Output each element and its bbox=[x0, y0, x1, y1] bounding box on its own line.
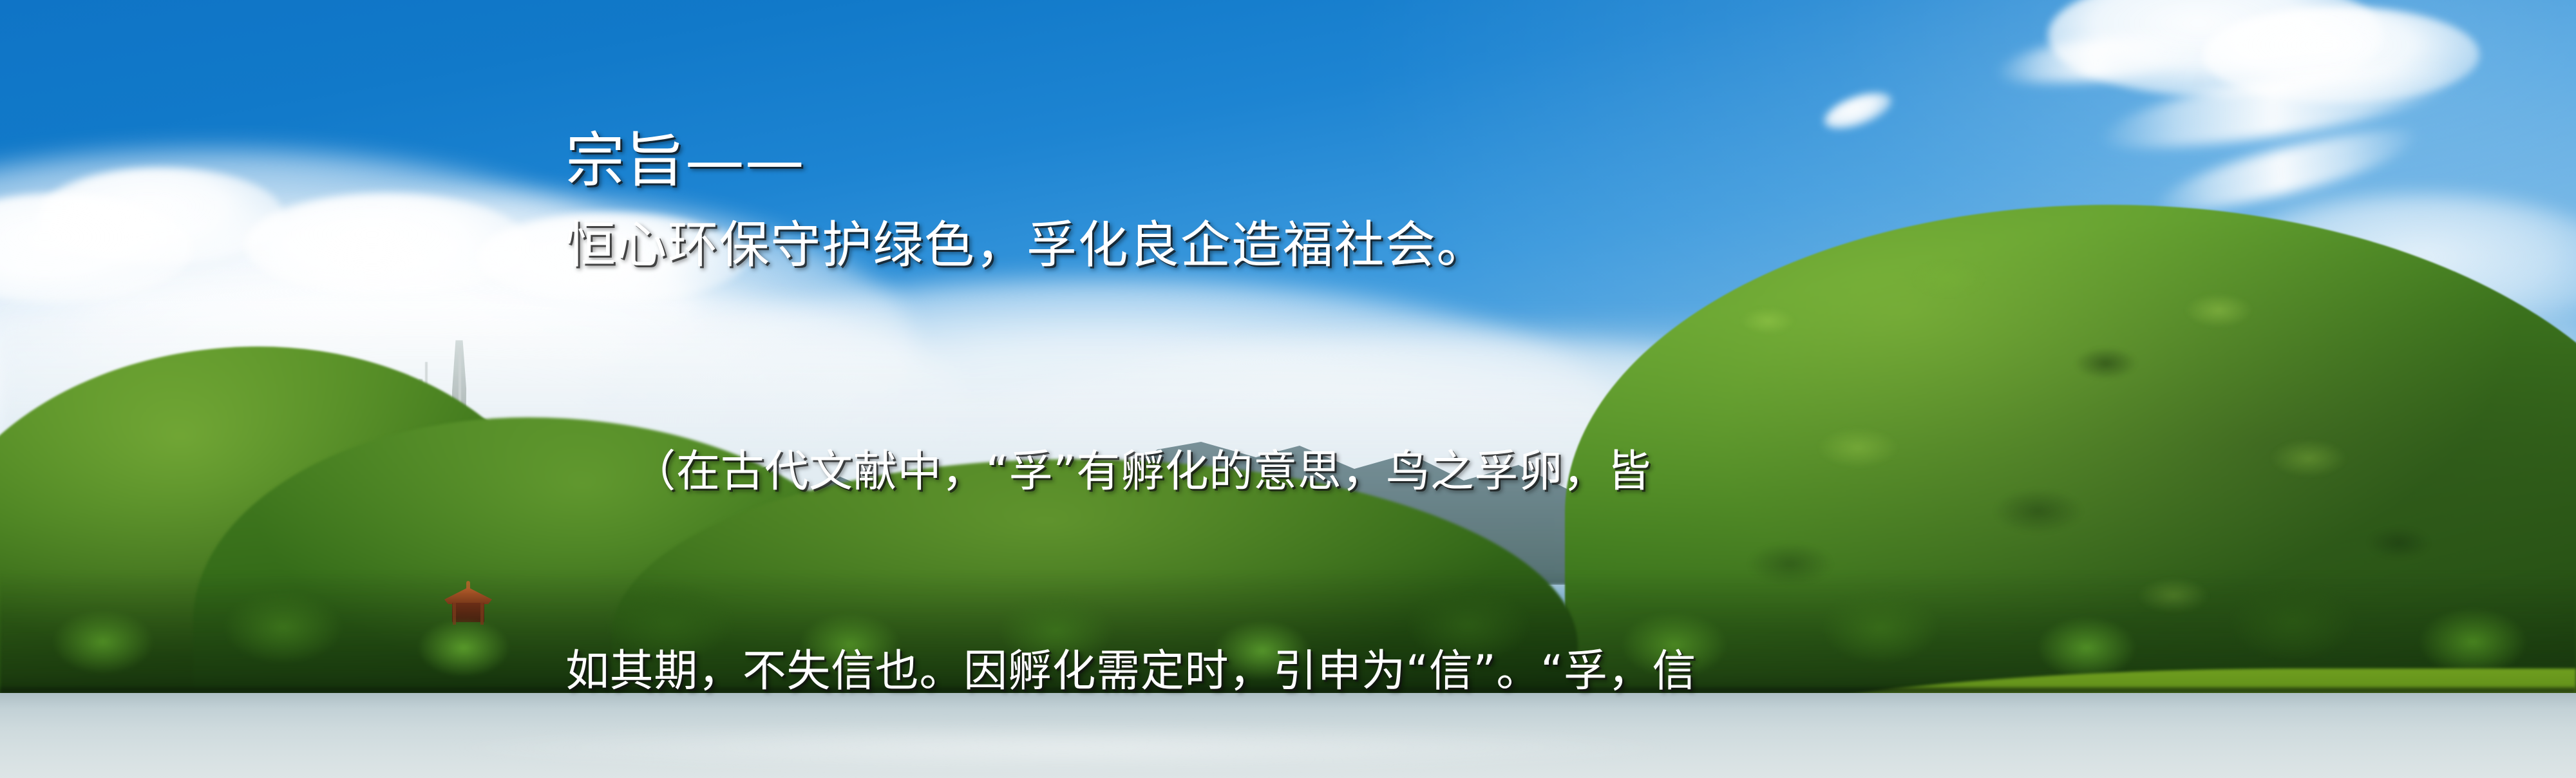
banner-text-block: 宗旨—— 恒心环保守护绿色，孚化良企造福社会。 （在古代文献中，“孚”有孵化的意… bbox=[565, 126, 2034, 778]
gloss-line-1: （在古代文献中，“孚”有孵化的意思，鸟之孚卵，皆 bbox=[565, 439, 2034, 505]
gloss-paragraph: （在古代文献中，“孚”有孵化的意思，鸟之孚卵，皆 如其期，不失信也。因孵化需定时… bbox=[565, 305, 2034, 778]
company-slogan: 恒心环保守护绿色，孚化良企造福社会。 bbox=[565, 216, 2034, 276]
hero-banner: 宗旨—— 恒心环保守护绿色，孚化良企造福社会。 （在古代文献中，“孚”有孵化的意… bbox=[0, 0, 2576, 778]
gloss-line-2: 如其期，不失信也。因孵化需定时，引申为“信”。“孚，信 bbox=[565, 638, 2034, 705]
page-title: 宗旨—— bbox=[565, 126, 2034, 196]
